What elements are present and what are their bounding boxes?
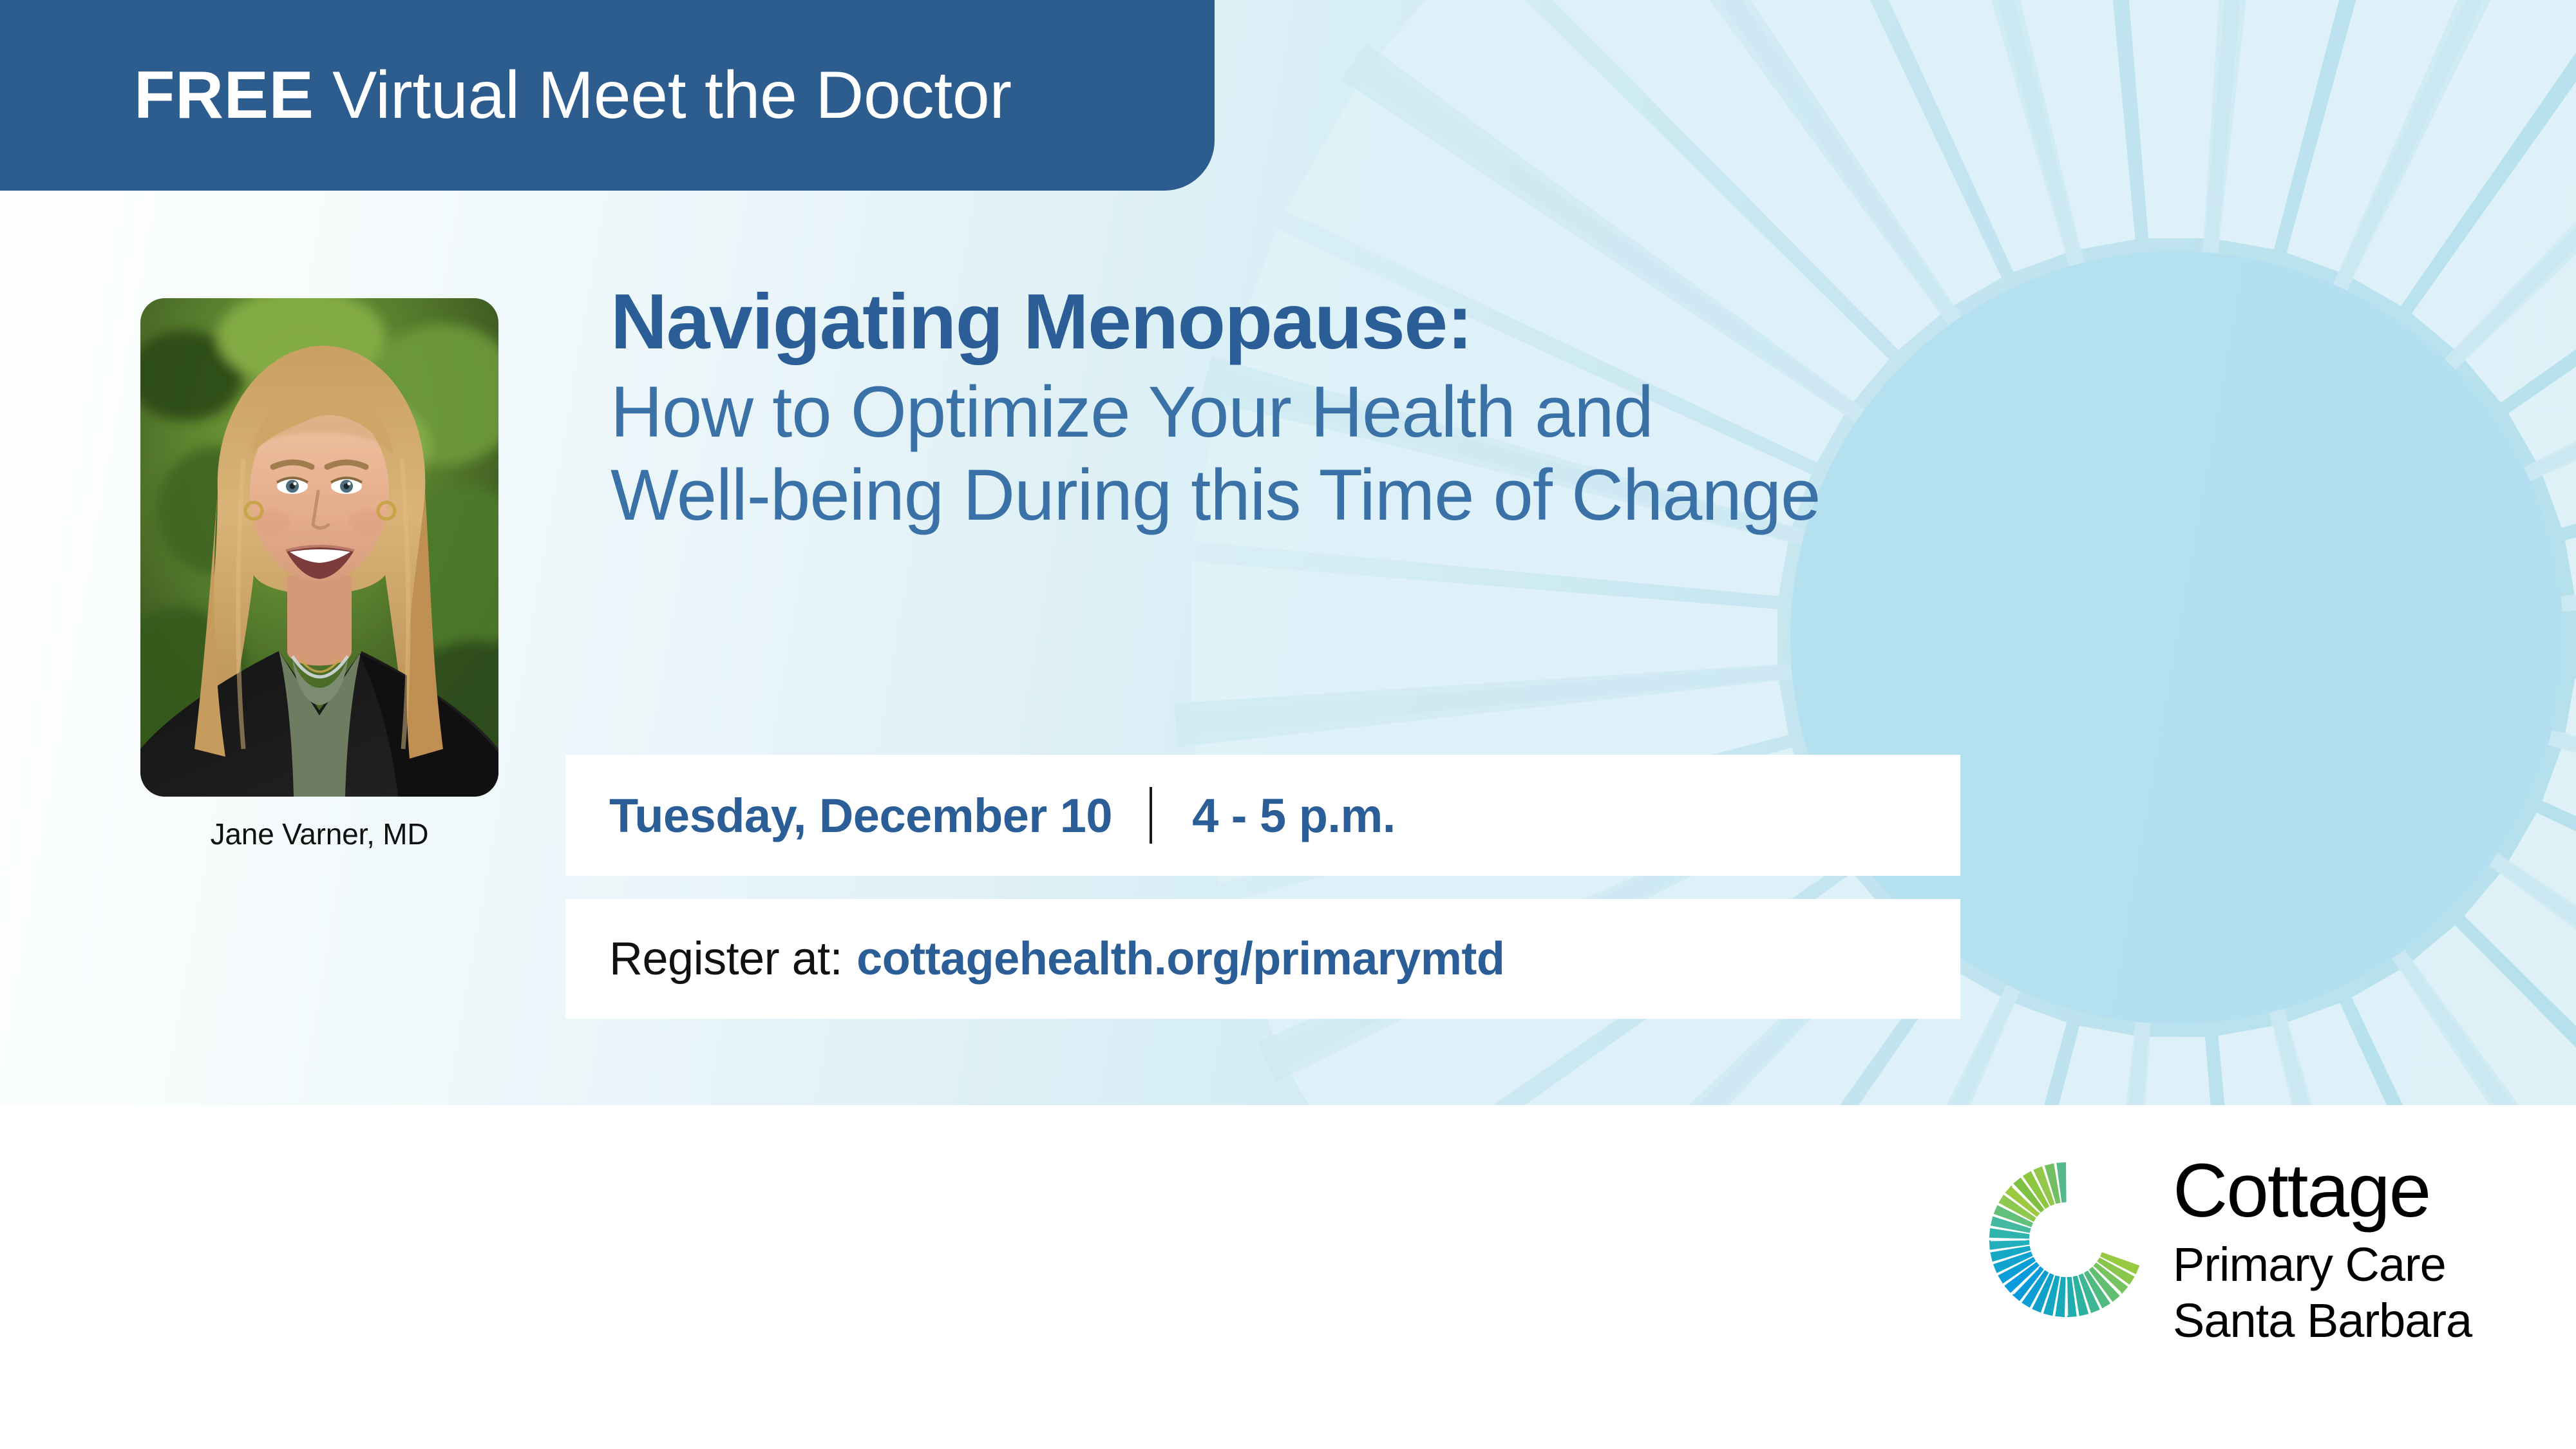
promo-poster: FREE Virtual Meet the Doctor xyxy=(0,0,2576,1449)
page-title: Navigating Menopause: xyxy=(611,282,2517,361)
headshot-image xyxy=(140,298,498,797)
cottage-health-logo: Cottage Primary Care Santa Barbara xyxy=(1984,1153,2472,1349)
subtitle-line-2: Well-being During this Time of Change xyxy=(611,454,2517,537)
speaker-photo xyxy=(140,298,498,797)
cottage-c-sunburst-logo-icon xyxy=(1984,1157,2150,1323)
headline-block: Navigating Menopause: How to Optimize Yo… xyxy=(611,282,2517,537)
hero-panel: FREE Virtual Meet the Doctor xyxy=(0,0,2576,1105)
register-label: Register at: xyxy=(609,933,842,985)
logo-location-line: Santa Barbara xyxy=(2173,1293,2472,1349)
banner-title: FREE Virtual Meet the Doctor xyxy=(134,62,1012,129)
logo-brand-name: Cottage xyxy=(2173,1153,2472,1229)
registration-bar: Register at: cottagehealth.org/primarymt… xyxy=(565,899,1960,1019)
free-event-banner: FREE Virtual Meet the Doctor xyxy=(0,0,1215,191)
datetime-divider-icon xyxy=(1150,787,1152,844)
speaker-caption: Jane Varner, MD xyxy=(122,817,516,851)
subtitle-line-1: How to Optimize Your Health and xyxy=(611,371,2517,454)
banner-series-label: Virtual Meet the Doctor xyxy=(314,58,1011,133)
event-datetime-bar: Tuesday, December 10 4 - 5 p.m. xyxy=(565,755,1960,876)
banner-free-label: FREE xyxy=(134,58,314,133)
event-time: 4 - 5 p.m. xyxy=(1192,788,1396,843)
event-date: Tuesday, December 10 xyxy=(609,788,1112,843)
logo-wordmark: Cottage Primary Care Santa Barbara xyxy=(2173,1153,2472,1349)
register-url-link[interactable]: cottagehealth.org/primarymtd xyxy=(857,933,1504,985)
logo-service-line: Primary Care xyxy=(2173,1236,2472,1293)
